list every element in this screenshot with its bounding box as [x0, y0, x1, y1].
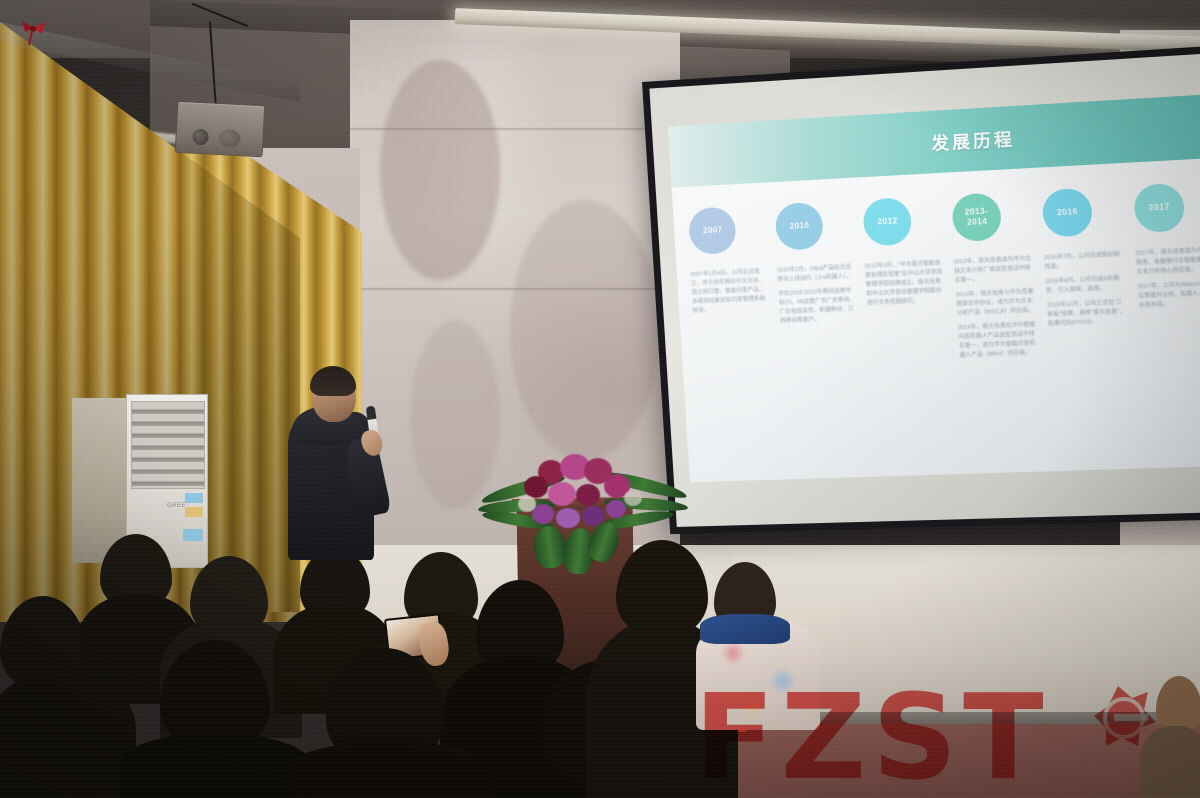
- audience-body: [1140, 726, 1200, 798]
- timeline-paragraph: 并在2010-2012年期间连续中标小i、05运营广东广东移动、广东电信及市、新…: [778, 286, 858, 326]
- timeline-paragraph: 2012年3月，"中大极天智能信息处理实验室"在中山大学资讯管理学院挂牌成立，极…: [864, 259, 946, 309]
- timeline-paragraph: 2016年8月，公司完成A轮融资，引入鼎晖、高瓴。: [1045, 274, 1127, 296]
- timeline-paragraph: 2016年7月，公司完成股份制改造。: [1044, 250, 1126, 273]
- red-ribbon-icon: [18, 20, 48, 46]
- timeline-description: 2013年，极天信息成为华为全球文本分析厂商选型测试中排名第一。2014年，极天…: [953, 254, 1040, 366]
- timeline-year-label: 2013-2014: [964, 206, 989, 228]
- timeline-paragraph: 2010年2月，GBot产品在北京移动上线运行（小e机器人）。: [777, 263, 856, 285]
- timeline-container: 20072007年1月4日，公司正式成立，并于同年推出中文分词、语义网引擎、智能…: [672, 157, 1200, 482]
- speaker-driver-icon: [192, 129, 209, 146]
- timeline-description: 2016年7月，公司完成股份制改造。2016年8月，公司完成A轮融资，引入鼎晖、…: [1044, 250, 1130, 335]
- timeline-year-label: 2012: [877, 216, 898, 227]
- timeline-year-circle: 2012: [862, 197, 912, 246]
- projection-screen[interactable]: 发展历程 20072007年1月4日，公司正式成立，并于同年推出中文分词、语义网…: [642, 45, 1200, 534]
- speaker-cone-icon: [218, 129, 241, 148]
- conference-photo-scene: 发展历程 20072007年1月4日，公司正式成立，并于同年推出中文分词、语义网…: [0, 0, 1200, 798]
- ceiling-speaker-icon: [175, 101, 266, 158]
- timeline-paragraph: 2014年，极天信息在华为智能问答机器人产品选型测试中排名第一，成为华为智能问答…: [958, 321, 1040, 361]
- timeline-description: 2017年，极天信息成为华为、政务、金融等行业智能客服与文本分析核心供应商。20…: [1135, 246, 1200, 317]
- audience-body: [0, 672, 136, 798]
- timeline-paragraph: 2007年1月4日，公司正式成立，并于同年推出中文分词、语义网引擎、智能问答产品…: [690, 267, 769, 316]
- timeline-year-circle: 2016: [1042, 187, 1094, 237]
- timeline-paragraph: 2017年，公司与Watson、阿里云等展开合作，拓展人工智能业务布局。: [1137, 279, 1200, 311]
- timeline-paragraph: 2013年，极天信息成为华为全球文本分析厂商选型测试中排名第一。: [953, 254, 1034, 286]
- timeline-year-label: 2016: [1057, 207, 1078, 218]
- timeline-year-label: 2010: [789, 220, 809, 231]
- timeline-year-circle: 2007: [688, 206, 737, 255]
- timeline-year-circle: 2017: [1133, 182, 1186, 232]
- timeline-paragraph: 2016年12月，公司正式在"三新板"挂牌，简称"极天信息"，股票代码87016…: [1047, 298, 1130, 330]
- timeline-description: 2012年3月，"中大极天智能信息处理实验室"在中山大学资讯管理学院挂牌成立，极…: [864, 259, 946, 314]
- ac-brand-badge: GREE: [167, 503, 186, 509]
- timeline-description: 2007年1月4日，公司正式成立，并于同年推出中文分词、语义网引擎、智能问答产品…: [690, 267, 770, 321]
- slide-title: 发展历程: [930, 125, 1015, 155]
- audience-body: [120, 734, 310, 798]
- presentation-slide: 发展历程 20072007年1月4日，公司正式成立，并于同年推出中文分词、语义网…: [668, 94, 1200, 482]
- timeline-paragraph: 2017年，极天信息成为华为、政务、金融等行业智能客服与文本分析核心供应商。: [1135, 246, 1200, 278]
- audience-collar: [700, 614, 790, 644]
- projection-screen-surface: 发展历程 20072007年1月4日，公司正式成立，并于同年推出中文分词、语义网…: [649, 53, 1200, 527]
- timeline-description: 2010年2月，GBot产品在北京移动上线运行（小e机器人）。并在2010-20…: [777, 263, 859, 332]
- audience-body: [290, 742, 490, 798]
- timeline-paragraph: 2014年，极天信息与华为签署框架合作协议，成为华为文本分析产品（BIGCA）供…: [955, 288, 1036, 319]
- timeline-year-label: 2017: [1149, 202, 1171, 213]
- timeline-year-label: 2007: [703, 225, 723, 236]
- timeline-year-circle: 2013-2014: [951, 192, 1002, 242]
- timeline-year-circle: 2010: [775, 201, 825, 250]
- ac-vent-grille-icon: [131, 401, 205, 489]
